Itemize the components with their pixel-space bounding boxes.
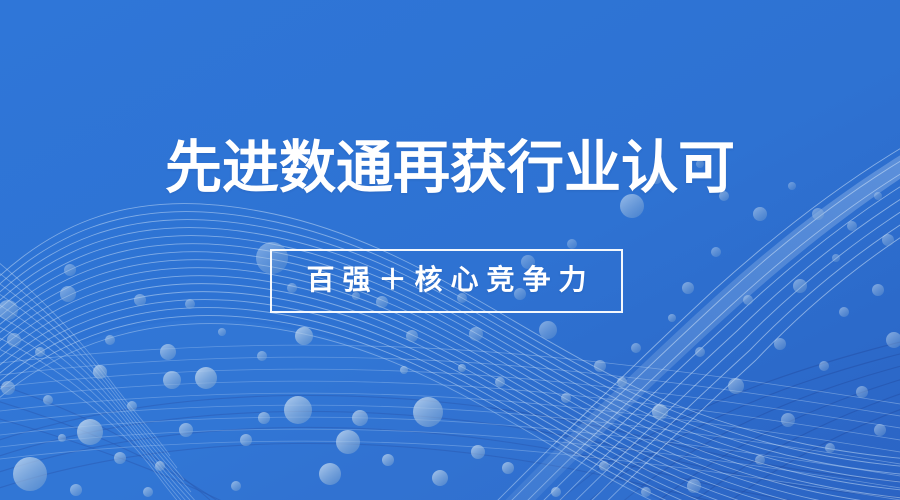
banner-title: 先进数通再获行业认可 <box>0 132 900 206</box>
subtitle-frame: 百强＋核心竞争力 <box>270 249 623 313</box>
banner-subtitle: 百强＋核心竞争力 <box>298 265 594 297</box>
promo-banner: 先进数通再获行业认可 百强＋核心竞争力 <box>0 0 900 500</box>
banner-content: 先进数通再获行业认可 百强＋核心竞争力 <box>0 0 900 500</box>
